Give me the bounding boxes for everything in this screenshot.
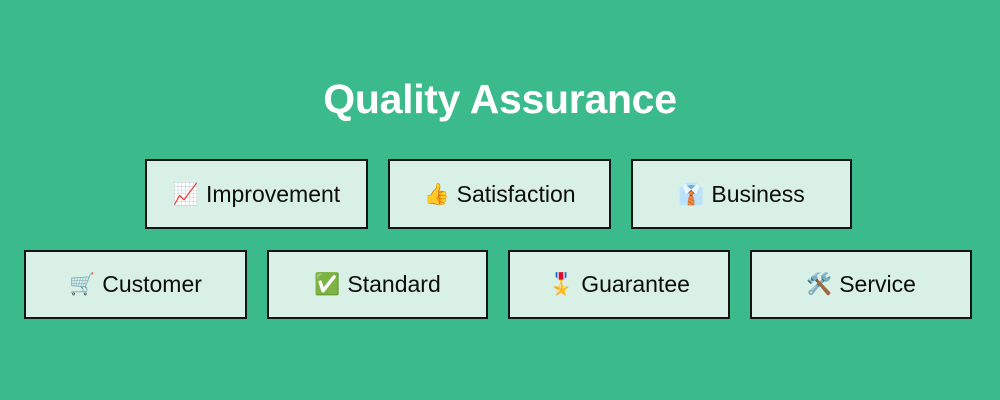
tag-content: ✅ Standard (314, 273, 441, 296)
tag-business[interactable]: 👔 Business (631, 159, 852, 229)
chart-increasing-icon: 📈 (173, 184, 199, 205)
tag-content: 👍 Satisfaction (423, 183, 575, 206)
necktie-icon: 👔 (678, 184, 704, 205)
tag-standard[interactable]: ✅ Standard (267, 250, 488, 319)
tag-content: 👔 Business (678, 183, 804, 206)
tag-row-2: 🛒 Customer ✅ Standard 🎖️ Guarantee 🛠️ Se… (24, 250, 992, 319)
tag-satisfaction[interactable]: 👍 Satisfaction (388, 159, 611, 229)
tag-label: Satisfaction (457, 183, 576, 206)
tag-row-1: 📈 Improvement 👍 Satisfaction 👔 Business (145, 159, 852, 229)
tag-label: Customer (102, 273, 202, 296)
tag-content: 🎖️ Guarantee (548, 273, 690, 296)
tag-content: 📈 Improvement (173, 183, 340, 206)
hammer-and-wrench-icon: 🛠️ (806, 274, 832, 295)
thumbs-up-icon: 👍 (423, 184, 449, 205)
military-medal-icon: 🎖️ (548, 274, 574, 295)
page-title: Quality Assurance (0, 74, 1000, 124)
tag-guarantee[interactable]: 🎖️ Guarantee (508, 250, 730, 319)
shopping-cart-icon: 🛒 (69, 274, 95, 295)
tag-content: 🛒 Customer (69, 273, 202, 296)
tag-label: Business (711, 183, 804, 206)
tag-label: Standard (347, 273, 440, 296)
tag-improvement[interactable]: 📈 Improvement (145, 159, 368, 229)
tag-label: Improvement (206, 183, 340, 206)
check-mark-button-icon: ✅ (314, 274, 340, 295)
tag-content: 🛠️ Service (806, 273, 916, 296)
tag-customer[interactable]: 🛒 Customer (24, 250, 247, 319)
poster-canvas: Quality Assurance 📈 Improvement 👍 Satisf… (0, 0, 1000, 400)
tag-label: Service (839, 273, 916, 296)
tag-label: Guarantee (581, 273, 690, 296)
tag-service[interactable]: 🛠️ Service (750, 250, 972, 319)
